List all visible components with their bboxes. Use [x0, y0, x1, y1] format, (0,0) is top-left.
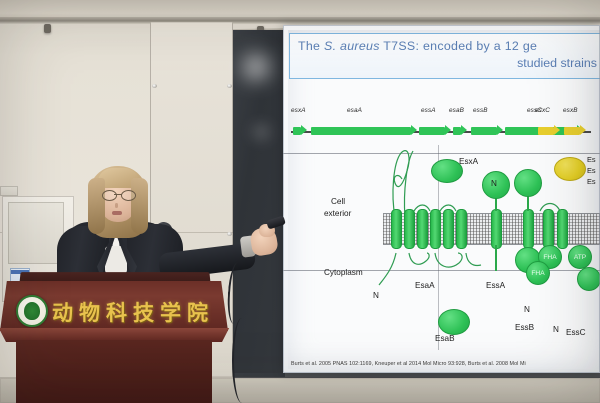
label-exterior: exterior: [324, 209, 351, 218]
gene-arrow-body: [538, 127, 554, 135]
essa-c-tail: [495, 245, 497, 271]
gene-label-esxC: esxC: [535, 107, 550, 114]
gene-arrow-body: [311, 127, 411, 135]
cabinet-top-edge: [0, 186, 18, 196]
label-esx-stack: Es: [587, 155, 596, 164]
gene-arrow-head-icon: [301, 125, 307, 135]
label-esaa: EsaA: [415, 281, 435, 290]
gene-arrow-body: [471, 127, 497, 135]
label-esx-stack: Es: [587, 166, 596, 175]
presentation-remote[interactable]: [266, 215, 286, 229]
gene-arrow-body: [564, 127, 580, 135]
gene-label-essA: essA: [421, 107, 436, 114]
esaa-tm-helix: [430, 209, 441, 249]
gene-arrow-body: [293, 127, 301, 135]
label-esab: EsaB: [435, 334, 455, 343]
lectern-base: [16, 340, 212, 403]
lectern: 动物科技学院: [0, 272, 234, 403]
gene-arrow-head-icon: [497, 125, 503, 135]
esaa-tm-helix: [456, 209, 467, 249]
essc-fha-domain: FHA: [526, 261, 550, 285]
gene-arrow-head-icon: [411, 125, 417, 135]
slide-title-box: The S. aureus T7SS: encoded by a 12 ge s…: [289, 33, 600, 79]
esaa-tm-helix: [417, 209, 428, 249]
gene-arrow-head-icon: [554, 125, 560, 135]
ceiling-rail: [0, 17, 600, 24]
essc-tm-helix: [543, 209, 554, 249]
slide-citation: Burts et al. 2005 PNAS 102:1169, Kneuper…: [291, 361, 526, 367]
gene-arrow-body: [419, 127, 445, 135]
presenter-hair-left: [88, 178, 105, 234]
essc-tm-helix: [557, 209, 568, 249]
lectern-banner-text: 动物科技学院: [52, 297, 214, 327]
gene-arrow-esxA: [293, 125, 307, 136]
essc-atpase-domain: ATP: [568, 245, 592, 269]
label-cell: Cell: [331, 197, 345, 206]
gene-arrow-head-icon: [445, 125, 451, 135]
label-n-terminus: N: [491, 179, 497, 188]
gene-arrow-essB: [471, 125, 503, 136]
gene-arrow-esaA: [311, 125, 417, 136]
panel-screw: [152, 84, 157, 88]
label-n-terminus: N: [524, 305, 530, 314]
title-post: T7SS: encoded by a 12 ge: [380, 39, 537, 53]
label-cytoplasm: Cytoplasm: [324, 268, 363, 277]
glasses-lens-left: [102, 190, 117, 201]
label-esxa: EsxA: [459, 157, 478, 166]
gene-arrow-esxB: [564, 125, 586, 136]
projection-screen[interactable]: The S. aureus T7SS: encoded by a 12 ge s…: [283, 25, 600, 373]
title-pre: The: [298, 39, 324, 53]
label-essc: EssC: [566, 328, 586, 337]
glasses-bridge: [114, 194, 122, 195]
gene-arrow-esaB: [453, 125, 467, 136]
light-glare: [248, 122, 274, 142]
esab-blob: [438, 309, 470, 335]
label-essa: EssA: [486, 281, 505, 290]
lecture-photo-scene: The S. aureus T7SS: encoded by a 12 ge s…: [0, 0, 600, 403]
presenter-nose: [115, 203, 118, 208]
presenter-hair-right: [131, 178, 148, 234]
essb-periplasmic-domain: [514, 169, 542, 197]
label-esx-stack: Es: [587, 177, 596, 186]
essa-tm-helix: [491, 209, 502, 249]
esaa-tm-helix: [443, 209, 454, 249]
gene-label-esxB: esxB: [563, 107, 578, 114]
gene-arrow-head-icon: [580, 125, 586, 135]
hanging-cable: [232, 318, 252, 403]
atp-badge-label: ATP: [574, 254, 586, 261]
lectern-front-panel: 动物科技学院: [0, 281, 228, 331]
title-species-italic: S. aureus: [324, 39, 380, 53]
esaa-tm-helix: [404, 209, 415, 249]
gene-label-esaA: esaA: [347, 107, 362, 114]
gene-label-esxA: esxA: [291, 107, 306, 114]
presenter-mouth: [112, 211, 122, 215]
t7ss-membrane-diagram: FHA FHA ATP Cell exterior Cytoplasm EsxA…: [283, 145, 600, 350]
label-essb: EssB: [515, 323, 534, 332]
ceiling-spotlight: [44, 24, 51, 33]
slide-title-line2: studied strains: [517, 56, 597, 70]
light-glare: [234, 47, 278, 87]
esaa-tm-helix: [391, 209, 402, 249]
esx-yellow-substrate-blob: [554, 157, 586, 181]
glasses-lens-right: [121, 190, 136, 201]
gene-arrow-body: [453, 127, 461, 135]
label-n-terminus: N: [373, 291, 379, 300]
gene-arrow-head-icon: [461, 125, 467, 135]
gene-label-esaB: esaB: [449, 107, 464, 114]
university-logo: [16, 295, 48, 327]
gene-arrow-essA: [419, 125, 451, 136]
fha-badge-label: FHA: [531, 270, 544, 277]
essc-atpase-domain: [577, 267, 600, 291]
essb-tm-helix: [523, 209, 534, 249]
slide-title-line1: The S. aureus T7SS: encoded by a 12 ge: [298, 38, 600, 55]
gene-arrow-esxC: [538, 125, 560, 136]
fha-badge-label: FHA: [543, 254, 556, 261]
panel-screw: [227, 84, 232, 88]
gene-label-essB: essB: [473, 107, 488, 114]
gene-cluster-diagram: esxAesaAessAesaBessBessCesxCesxB: [283, 107, 600, 143]
label-n-terminus: N: [553, 325, 559, 334]
